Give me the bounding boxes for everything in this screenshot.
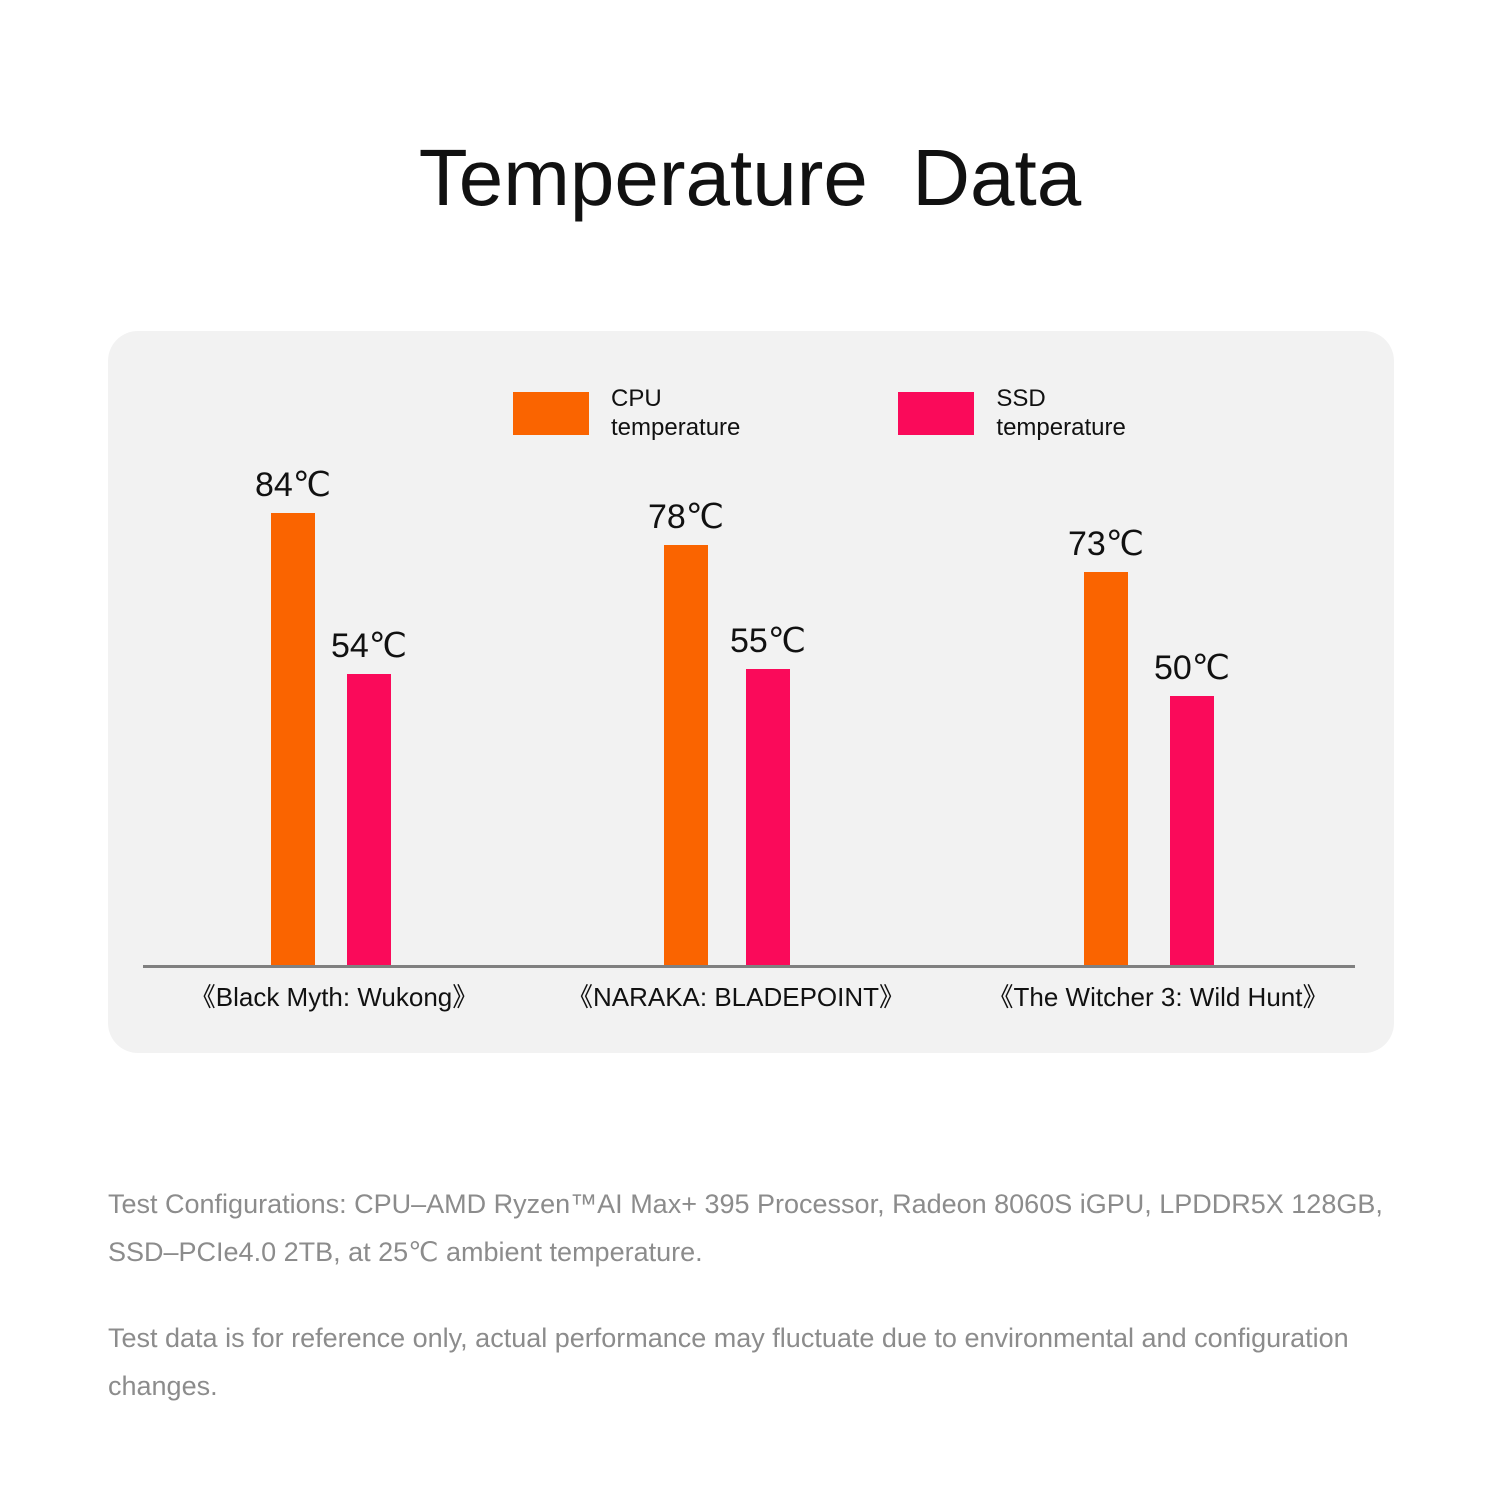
bar-cpu-witcher3[interactable] [1084,572,1128,965]
bar-value-ssd-naraka: 55℃ [730,624,806,658]
bar-value-ssd-black-myth: 54℃ [331,629,407,663]
bar-value-cpu-naraka: 78℃ [648,500,724,534]
bar-value-ssd-witcher3: 50℃ [1154,651,1230,685]
bar-value-cpu-witcher3: 73℃ [1068,527,1144,561]
x-axis-baseline [143,965,1355,968]
bar-cpu-black-myth[interactable] [271,513,315,965]
group-label-witcher3: 《The Witcher 3: Wild Hunt》 [988,981,1329,1013]
group-label-black-myth: 《Black Myth: Wukong》 [190,981,479,1013]
page-title: Temperature Data [0,132,1500,224]
bar-value-cpu-black-myth: 84℃ [255,468,331,502]
footnotes: Test Configurations: CPU–AMD Ryzen™AI Ma… [108,1180,1398,1410]
plot-area: 84℃ 54℃ 《Black Myth: Wukong》 78℃ 55℃ 《NA… [108,331,1394,1053]
footnote-test-configurations: Test Configurations: CPU–AMD Ryzen™AI Ma… [108,1180,1398,1276]
group-label-naraka: 《NARAKA: BLADEPOINT》 [567,981,905,1013]
temperature-data-infographic: Temperature Data CPU temperature SSD tem… [0,0,1500,1500]
bar-cpu-naraka[interactable] [664,545,708,965]
bar-ssd-witcher3[interactable] [1170,696,1214,965]
bar-ssd-black-myth[interactable] [347,674,391,965]
chart-card: CPU temperature SSD temperature 84℃ 54℃ … [108,331,1394,1053]
footnote-disclaimer: Test data is for reference only, actual … [108,1314,1398,1410]
bar-ssd-naraka[interactable] [746,669,790,965]
